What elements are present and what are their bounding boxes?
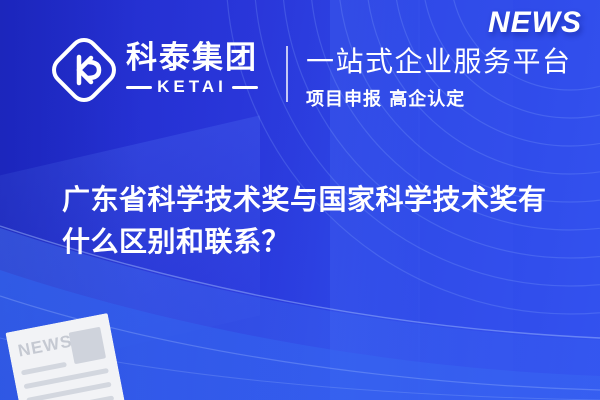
page-title: 广东省科学技术奖与国家科学技术奖有什么区别和联系？ (62, 179, 562, 264)
tagline-secondary: 项目申报 高企认定 (306, 85, 572, 111)
wordmark-rule-left (126, 86, 152, 89)
banner-header: 科泰集团 KETAI 一站式企业服务平台 项目申报 高企认定 NEWS (0, 0, 600, 140)
image-placeholder-icon (69, 327, 107, 365)
tagline: 一站式企业服务平台 项目申报 高企认定 (306, 40, 572, 111)
brand-name-en: KETAI (157, 77, 227, 97)
news-badge: NEWS (488, 6, 582, 40)
wordmark-rule-right (232, 86, 258, 89)
brand-name-cn: 科泰集团 (126, 43, 258, 75)
news-banner: NEWS 科泰集团 KETAI (0, 0, 600, 400)
brand-wordmark: 科泰集团 KETAI (126, 43, 258, 98)
brand-name-en-row: KETAI (126, 77, 258, 97)
tagline-primary: 一站式企业服务平台 (306, 40, 572, 80)
vertical-divider-icon (286, 46, 288, 102)
brand-logo[interactable]: 科泰集团 KETAI (52, 38, 258, 102)
ketai-diamond-monogram-icon (52, 38, 116, 102)
